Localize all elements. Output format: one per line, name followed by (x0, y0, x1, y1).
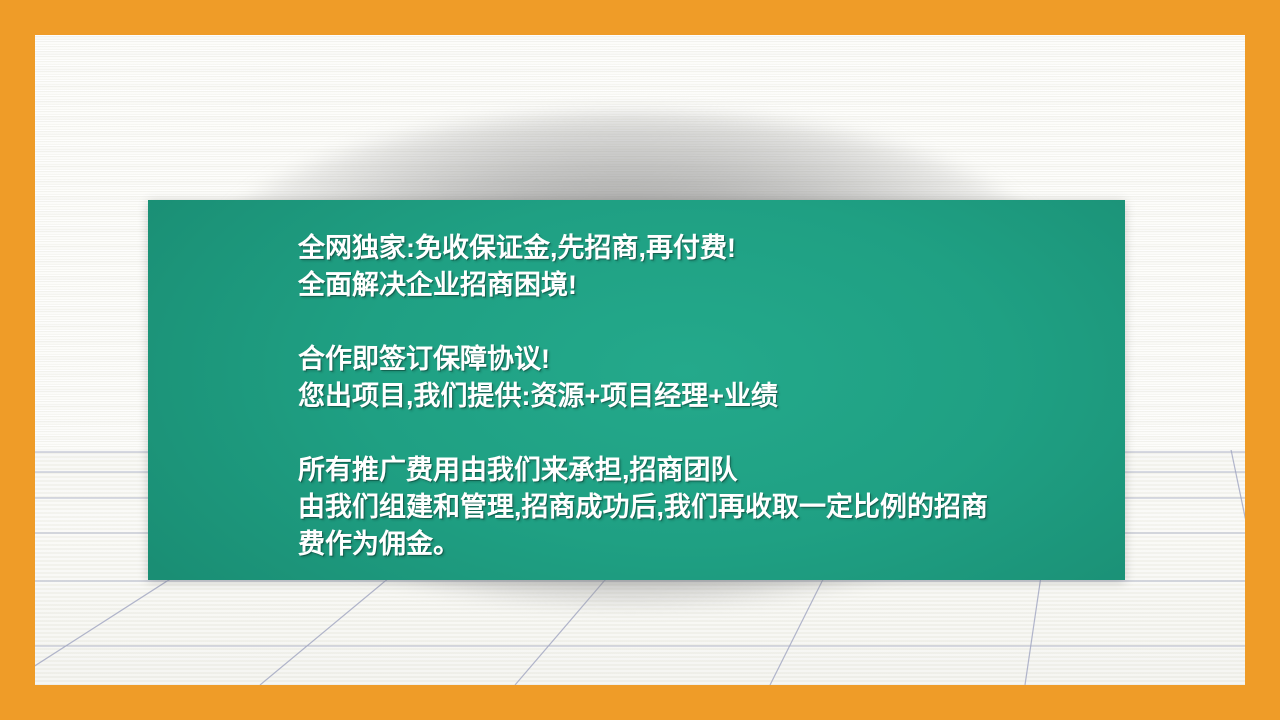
headline-line-1: 全网独家:免收保证金,先招商,再付费! (298, 230, 1105, 267)
slide-canvas: 全网独家:免收保证金,先招商,再付费! 全面解决企业招商困境! 合作即签订保障协… (0, 0, 1280, 720)
terms-line-1: 所有推广费用由我们来承担,招商团队 (298, 452, 1105, 489)
text-spacer-1 (298, 304, 1105, 341)
agreement-line-2: 您出项目,我们提供:资源+项目经理+业绩 (298, 378, 1105, 415)
headline-line-2: 全面解决企业招商困境! (298, 267, 1105, 304)
terms-line-3: 费作为佣金。 (298, 526, 1105, 563)
green-message-panel: 全网独家:免收保证金,先招商,再付费! 全面解决企业招商困境! 合作即签订保障协… (148, 200, 1125, 580)
panel-text-block: 全网独家:免收保证金,先招商,再付费! 全面解决企业招商困境! 合作即签订保障协… (298, 230, 1105, 563)
slide-inner-area: 全网独家:免收保证金,先招商,再付费! 全面解决企业招商困境! 合作即签订保障协… (35, 35, 1245, 685)
terms-line-2: 由我们组建和管理,招商成功后,我们再收取一定比例的招商 (298, 489, 1105, 526)
text-spacer-2 (298, 415, 1105, 452)
agreement-line-1: 合作即签订保障协议! (298, 341, 1105, 378)
